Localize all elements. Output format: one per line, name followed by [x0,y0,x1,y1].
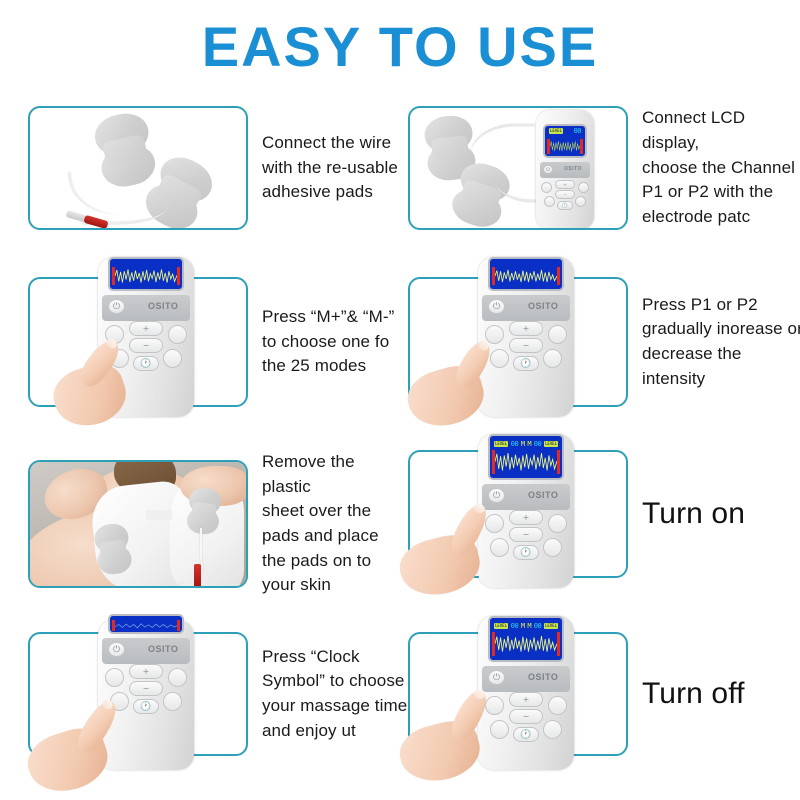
pointing-hand [414,504,514,588]
lcd-value-right: 00 [574,127,581,135]
lcd-unit-left: M [521,622,525,630]
lcd-waveform [547,139,583,153]
step-1-caption: Connect the wire with the re-usable adhe… [248,131,398,205]
step-3: ⏻ OSITO + − 🕐 Press “M+”& “M-” [28,277,398,407]
lcd-screen: LEVEL 00 [543,124,587,158]
wire-connector-red [194,564,201,586]
step-2-image: LEVEL 00 ⏻ OSITO + [408,106,628,230]
power-button[interactable]: ⏻ [488,670,505,685]
page-title: EASY TO USE [0,14,800,79]
intensity-down-right-button[interactable] [543,720,562,739]
power-button[interactable]: ⏻ [488,299,505,314]
lcd-waveform [112,620,180,631]
mode-down-button[interactable]: − [509,338,543,353]
electrode-wire [200,528,214,572]
mode-up-button[interactable]: + [129,321,163,336]
back-with-pads-photo [30,462,246,586]
mode-up-button[interactable]: + [129,664,163,679]
lcd-value-left: 00 [511,440,518,448]
step-6-image: LEVEL 00 M M 00 LEVEL [408,450,628,578]
lcd-chip-left: LEVEL [494,623,508,629]
mode-up-button[interactable]: + [509,321,543,336]
device-brand-logo: OSITO [148,644,178,654]
lcd-screen [108,257,184,291]
lcd-waveform [492,450,560,474]
electrode-wire [470,124,534,170]
mode-down-button[interactable]: − [509,709,543,724]
mode-up-button[interactable]: + [509,510,543,525]
power-button[interactable]: ⏻ [543,165,553,174]
step-7: ⏻ OSITO + − 🕐 Press “Clock Symbol” to c [28,632,408,756]
mode-up-button[interactable]: + [509,692,543,707]
step-4-caption: Press P1 or P2 gradually inorease or dec… [628,293,800,392]
pointing-hand [60,337,156,417]
lcd-status-row: LEVEL 00 M M 00 LEVEL [492,620,560,633]
mode-down-button[interactable]: − [509,527,543,542]
power-button[interactable]: ⏻ [488,488,505,503]
lcd-value-right: 00 [534,440,541,448]
mode-down-button[interactable]: − [129,681,163,696]
channel-p1-button[interactable] [105,668,124,687]
pointing-hand [46,702,146,782]
clock-button[interactable]: 🕐 [513,356,539,371]
lcd-chip-right: LEVEL [544,623,558,629]
channel-p2-button[interactable] [548,696,567,715]
clock-button[interactable]: 🕐 [557,201,573,210]
step-2-caption: Connect LCD display, choose the Channel … [628,106,796,229]
intensity-down-right-button[interactable] [163,349,182,368]
lcd-waveform [112,267,180,285]
lcd-unit-right: M [527,440,531,448]
step-7-image: ⏻ OSITO + − 🕐 [28,632,248,756]
lcd-waveform [492,267,560,285]
lcd-screen [488,257,564,291]
intensity-down-right-button[interactable] [575,196,586,207]
step-5: Remove the plastic sheet over the pads a… [28,450,400,598]
channel-p2-button[interactable] [168,668,187,687]
clock-button[interactable]: 🕐 [513,545,539,560]
electrode-pad [93,522,134,576]
step-6: LEVEL 00 M M 00 LEVEL [408,450,798,578]
lcd-status-row: LEVEL 00 [547,128,583,135]
step-5-image [28,460,248,588]
step-3-caption: Press “M+”& “M-” to choose one fo the 25… [248,305,398,379]
mode-up-button[interactable]: + [555,180,575,189]
channel-p2-button[interactable] [548,514,567,533]
electrode-wire [122,570,182,586]
device-brand-logo: OSITO [528,301,558,311]
step-1-image [28,106,248,230]
step-1: Connect the wire with the re-usable adhe… [28,106,398,230]
step-8: LEVEL 00 M M 00 LEVEL [408,632,798,756]
channel-p2-button[interactable] [168,325,187,344]
lcd-screen [108,614,184,634]
step-8-image: LEVEL 00 M M 00 LEVEL [408,632,628,756]
intensity-down-left-button[interactable] [544,196,555,207]
device-brand-logo: OSITO [148,301,178,311]
lcd-chip-right: LEVEL [544,441,558,447]
intensity-down-right-button[interactable] [543,538,562,557]
lcd-screen: LEVEL 00 M M 00 LEVEL [488,616,564,662]
lcd-screen: LEVEL 00 M M 00 LEVEL [488,434,564,480]
clock-button[interactable]: 🕐 [513,727,539,742]
lcd-value-right: 00 [534,622,541,630]
step-7-caption: Press “Clock Symbol” to choose your mass… [248,645,408,744]
lcd-waveform [492,632,560,656]
page-root: EASY TO USE Connect the wire with the re… [0,0,800,800]
step-5-caption: Remove the plastic sheet over the pads a… [248,450,400,598]
pointing-hand [414,688,514,772]
intensity-down-right-button[interactable] [163,692,182,711]
intensity-down-right-button[interactable] [543,349,562,368]
pointing-hand [418,337,514,417]
lcd-chip-left: LEVEL [494,441,508,447]
step-3-image: ⏻ OSITO + − 🕐 [28,277,248,407]
power-button[interactable]: ⏻ [108,299,125,314]
lcd-value-left: 00 [511,622,518,630]
garment-logo [146,510,172,520]
lcd-status-row: LEVEL 00 M M 00 LEVEL [492,438,560,451]
power-button[interactable]: ⏻ [108,642,125,657]
step-2: LEVEL 00 ⏻ OSITO + [408,106,796,230]
device-brand-logo: OSITO [564,166,582,172]
lcd-chip-left: LEVEL [549,128,563,134]
lcd-unit-left: M [521,440,525,448]
device-brand-logo: OSITO [528,672,558,682]
step-4-image: ⏻ OSITO + − 🕐 [408,277,628,407]
step-8-caption: Turn off [628,676,798,712]
step-4: ⏻ OSITO + − 🕐 Press P1 or P2 gradually [408,277,800,407]
channel-p1-button[interactable] [541,182,552,193]
tens-device: LEVEL 00 ⏻ OSITO + [536,110,594,228]
lcd-unit-right: M [527,622,531,630]
device-brand-logo: OSITO [528,490,558,500]
channel-p2-button[interactable] [578,182,589,193]
channel-p2-button[interactable] [548,325,567,344]
step-6-caption: Turn on [628,496,798,532]
mode-down-button[interactable]: − [555,190,575,199]
